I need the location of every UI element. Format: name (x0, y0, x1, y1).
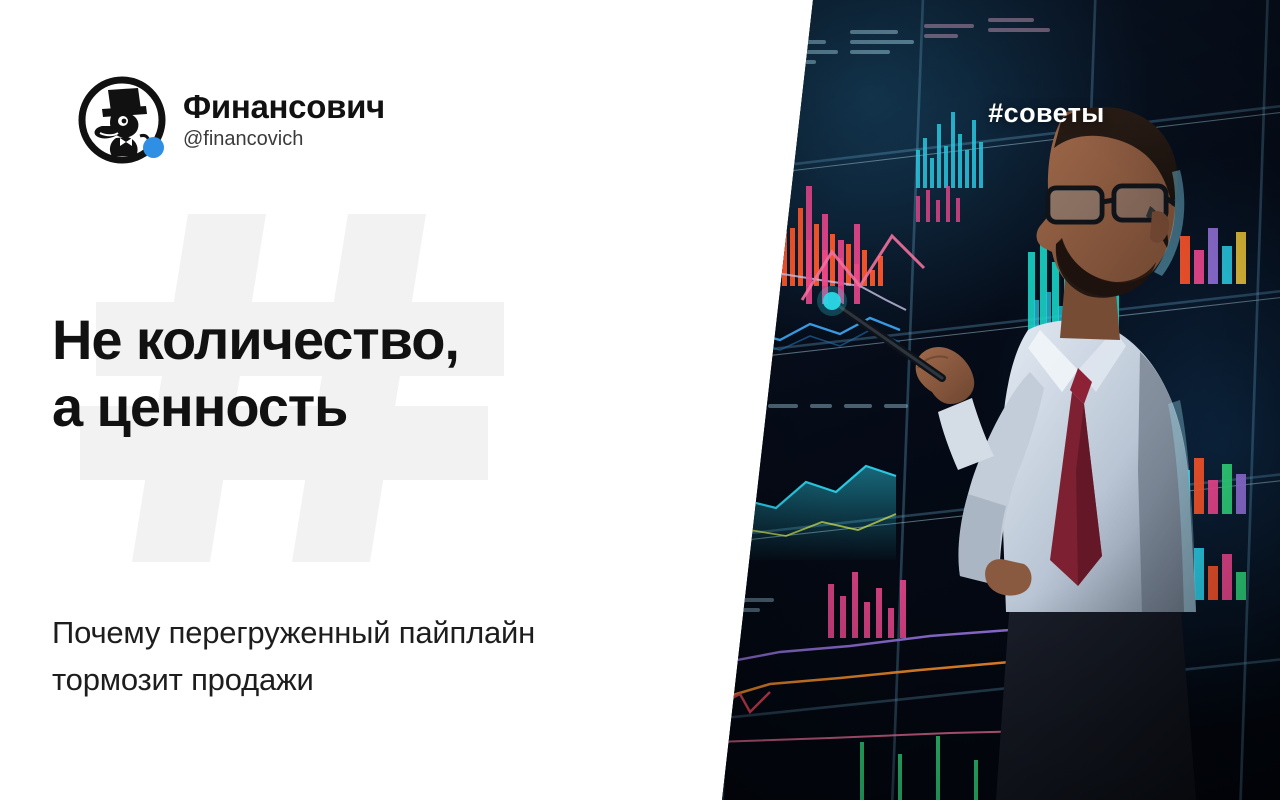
page-title: Не количество, а ценность (52, 306, 692, 440)
subtitle: Почему перегруженный пайплайн тормозит п… (52, 609, 702, 703)
online-status-dot (143, 137, 164, 158)
brand-name: Финансович (183, 89, 385, 126)
businessman-figure (710, 0, 1280, 800)
brand-text: Финансович @financovich (183, 89, 385, 151)
brand-block[interactable]: Финансович @financovich (78, 76, 385, 164)
brand-handle[interactable]: @financovich (183, 127, 385, 151)
hero-photo-panel (710, 0, 1280, 800)
content-column: Финансович @financovich Не количество, а… (0, 0, 720, 800)
avatar[interactable] (78, 76, 166, 164)
social-post-card: #советы (0, 0, 1280, 800)
